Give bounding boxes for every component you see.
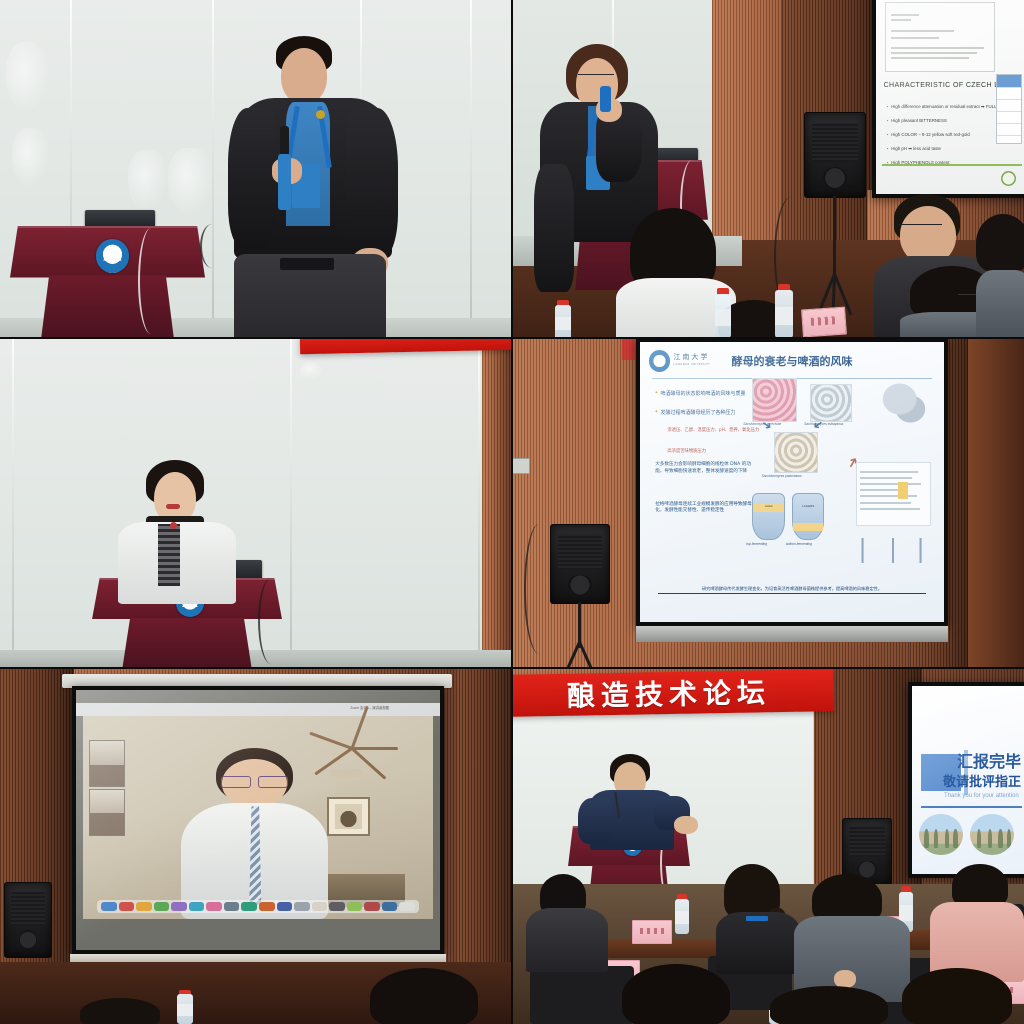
arm-left <box>578 798 612 844</box>
name-card-icon <box>632 920 672 944</box>
video-call-screen: Zoom 会议 — 演讲者视图 <box>76 690 440 950</box>
badge-icon <box>170 522 177 529</box>
name-card-icon <box>801 306 847 337</box>
slide-footer: 研究啤酒酵母传代发酵生理变化，为培育高活性啤酒酵母菌株提供参考，提高啤酒的风味稳… <box>658 586 926 594</box>
glass-seam <box>478 338 480 668</box>
glass-seam <box>290 338 292 668</box>
audience-member <box>360 968 490 1024</box>
glass-reflection <box>6 42 50 112</box>
dock-icon[interactable] <box>241 902 257 911</box>
dock-icon[interactable] <box>277 902 293 911</box>
tank-label: LAGERS <box>793 504 823 508</box>
dock-icon[interactable] <box>154 902 170 911</box>
dock-icon[interactable] <box>189 902 205 911</box>
slide-line-2: 敬请批评指正 <box>943 771 1021 790</box>
audience-member <box>526 874 608 970</box>
glass-reflection <box>300 362 324 380</box>
audience-member <box>712 864 800 974</box>
podium-body <box>122 618 251 668</box>
speaker-cabinet-icon <box>4 882 52 958</box>
tripod-stand-icon <box>804 196 864 316</box>
micrograph-image <box>752 378 797 422</box>
head <box>281 48 327 104</box>
spectrum-peak <box>883 538 907 563</box>
speaker-cabinet-icon <box>550 524 610 604</box>
window-title-bar[interactable]: Zoom 会议 — 演讲者视图 <box>76 703 440 716</box>
panel-middle-right: 江南大学 JIANGNAN UNIVERSITY 酵母的衰老与啤酒的风味 啤酒酵… <box>512 338 1024 668</box>
dock-icon[interactable] <box>294 902 310 911</box>
screen-surface: 汇报完毕 敬请批评指正 Thank you for your attention <box>912 686 1024 874</box>
participant-thumbnail[interactable] <box>89 789 126 836</box>
speaker-cable <box>524 524 554 654</box>
slide-table <box>996 74 1022 144</box>
hair <box>622 964 730 1024</box>
slide-bullet: 啤酒酵母的状态影响啤酒的风味与质量 <box>655 390 745 397</box>
hair <box>902 968 1012 1024</box>
slide-line-1: 汇报完毕 <box>957 748 1021 772</box>
hand-right <box>674 816 698 834</box>
slide-czech-lager: CHARACTERISTIC OF CZECH LAGER High diffe… <box>876 0 1024 194</box>
video-stage <box>83 716 432 919</box>
tank-label: ALES <box>753 504 783 508</box>
glass-reflection <box>128 150 168 212</box>
tank-caption: top-fermenting <box>746 542 767 546</box>
fermenter-ales: ALES <box>752 493 784 540</box>
wood-wall <box>482 338 512 668</box>
panel-bottom-left: Zoom 会议 — 演讲者视图 <box>0 668 512 1024</box>
dock-icon[interactable] <box>399 902 415 911</box>
audience-member <box>930 864 1024 980</box>
fermenter-lagers: LAGERS <box>792 493 824 540</box>
speaker-cabinet-icon <box>804 112 866 198</box>
slide-yeast-aging: 江南大学 JIANGNAN UNIVERSITY 酵母的衰老与啤酒的风味 啤酒酵… <box>640 342 944 622</box>
podium <box>10 226 205 338</box>
projection-screen: Zoom 会议 — 演讲者视图 <box>72 686 444 954</box>
spectrum-peak <box>853 538 877 563</box>
university-emblem-icon <box>96 239 129 272</box>
dock-icon[interactable] <box>382 902 398 911</box>
self-view-thumbnail[interactable] <box>89 740 126 787</box>
water-bottle-icon <box>674 894 690 934</box>
dock-icon[interactable] <box>101 902 117 911</box>
hair <box>370 968 478 1024</box>
panel-bottom-right: 酿造技术论坛 汇报完毕 敬请批评指正 Thank you for your at… <box>512 668 1024 1024</box>
scarf <box>158 524 180 586</box>
audience-member <box>770 986 888 1024</box>
speaker-figure <box>228 36 398 338</box>
slide-bullet: High difference attenuation or residual … <box>887 104 1009 110</box>
panel-divider <box>0 667 1024 669</box>
lapel-pin-icon <box>316 110 325 119</box>
arm-right <box>346 108 398 258</box>
banner-tail <box>622 338 636 360</box>
panel-top-left <box>0 0 512 338</box>
dock-icon[interactable] <box>171 902 187 911</box>
remote-presenter <box>174 748 335 918</box>
dock-icon[interactable] <box>136 902 152 911</box>
window-title: Zoom 会议 — 演讲者视图 <box>350 705 389 710</box>
water-bottle-icon <box>554 300 572 338</box>
speaker-figure <box>112 460 242 600</box>
laptop-icon <box>85 210 155 226</box>
microphone-icon <box>600 86 611 112</box>
dock-icon[interactable] <box>224 902 240 911</box>
slide-paragraph: 大多数压力会影响酵母细胞的线粒体 DNA 的功能，导致细胞快速衰老，整体发酵速度… <box>655 462 758 476</box>
glass-seam <box>12 338 14 668</box>
spectrum-peak <box>911 538 935 563</box>
microphone-body <box>278 154 291 210</box>
wall-socket-icon <box>512 458 530 474</box>
projection-screen: CHARACTERISTIC OF CZECH LAGER High diffe… <box>872 0 1024 198</box>
audience-member <box>622 964 732 1024</box>
panel-middle-left <box>0 338 512 668</box>
heatmap-chart <box>856 462 931 526</box>
glasses-icon <box>221 776 289 786</box>
slide-line-3: Thank you for your attention <box>944 793 1019 799</box>
wall-edge <box>968 338 1024 668</box>
speaker-figure <box>578 754 698 846</box>
water-bottle-icon <box>176 990 194 1024</box>
arm-left <box>534 164 574 292</box>
dock-icon[interactable] <box>206 902 222 911</box>
hair <box>80 998 160 1024</box>
water-bottle-icon <box>714 288 732 338</box>
torso <box>976 270 1024 338</box>
slide-bullet: High pleasant BITTERNESS <box>887 118 947 123</box>
chair <box>530 966 634 1024</box>
glasses-icon <box>898 224 942 235</box>
photo-collage: CHARACTERISTIC OF CZECH LAGER High diffe… <box>0 0 1024 1024</box>
slide-accent-rule <box>882 164 1022 166</box>
dock-icon[interactable] <box>364 902 380 911</box>
screen-surface: 江南大学 JIANGNAN UNIVERSITY 酵母的衰老与啤酒的风味 啤酒酵… <box>640 342 944 622</box>
tank-caption: bottom-fermenting <box>786 542 812 546</box>
glass-reflection <box>12 128 50 188</box>
dock-icon[interactable] <box>119 902 135 911</box>
forum-banner: 酿造技术论坛 <box>512 669 834 717</box>
macos-dock[interactable] <box>97 900 419 913</box>
campus-photo <box>919 814 963 855</box>
wall-plaque <box>331 769 362 777</box>
slide-thank-you: 汇报完毕 敬请批评指正 Thank you for your attention <box>912 686 1024 874</box>
hair <box>770 986 888 1024</box>
glass-reflection <box>168 148 214 216</box>
slide-sub-bullet: 高浓度苦味物质压力 <box>667 448 706 454</box>
micrograph-caption: Saccharomyces pastorianus <box>762 474 802 478</box>
audience-member <box>80 998 160 1024</box>
panel-divider <box>0 337 1024 339</box>
slide-bullet: High COLOR – 9-12 yellow soft red-gold <box>887 132 970 137</box>
audience-member <box>794 874 910 1002</box>
audience-member <box>902 968 1012 1024</box>
glass-seam <box>470 0 472 338</box>
banner-text: 酿造技术论坛 <box>512 670 834 716</box>
cable <box>138 228 164 334</box>
screen-surface: Zoom 会议 — 演讲者视图 <box>76 690 440 950</box>
panel-top-right: CHARACTERISTIC OF CZECH LAGER High diffe… <box>512 0 1024 338</box>
campus-photo <box>970 814 1014 855</box>
dock-icon[interactable] <box>312 902 328 911</box>
arm-left <box>228 108 276 248</box>
cable <box>258 578 284 664</box>
belt <box>280 258 334 270</box>
dock-icon[interactable] <box>347 902 363 911</box>
institution-seal-icon <box>1001 171 1016 186</box>
screen-bottom-bar <box>636 626 948 642</box>
screen-surface: CHARACTERISTIC OF CZECH LAGER High diffe… <box>876 0 1024 194</box>
torso <box>526 908 608 972</box>
dock-icon[interactable] <box>329 902 345 911</box>
panel-divider <box>511 0 513 1024</box>
cable <box>200 224 224 268</box>
dock-icon[interactable] <box>259 902 275 911</box>
slide-bullet: 发酵过程啤酒酵母经历了各种压力 <box>655 409 735 416</box>
glasses-icon <box>578 74 614 84</box>
lips <box>166 504 180 509</box>
micrograph-image <box>774 432 819 473</box>
tripod-stand-icon <box>550 602 608 668</box>
projection-screen: 江南大学 JIANGNAN UNIVERSITY 酵母的衰老与啤酒的风味 啤酒酵… <box>636 338 948 626</box>
slide-title: 酵母的衰老与啤酒的风味 <box>640 353 944 369</box>
slide-text-box <box>885 2 994 72</box>
audience-member <box>976 214 1024 338</box>
water-bottle-icon <box>774 284 794 338</box>
projection-screen: 汇报完毕 敬请批评指正 Thank you for your attention <box>908 682 1024 878</box>
lanyard <box>746 916 768 921</box>
slide-bullet: High pH ➡ less acid taste <box>887 146 941 152</box>
slide-rule <box>921 806 1022 808</box>
cell-diagram <box>880 381 929 426</box>
hair <box>976 214 1024 272</box>
slide-sub-bullet: 渗透压、乙醇、温度压力、pH、营养、氧化压力 <box>667 427 759 433</box>
slide-paragraph: 拉格啤酒酵母连续工业规模发酵的应用导致酵母老化，发酵性能交替性、遗传稳定性 <box>655 502 758 516</box>
